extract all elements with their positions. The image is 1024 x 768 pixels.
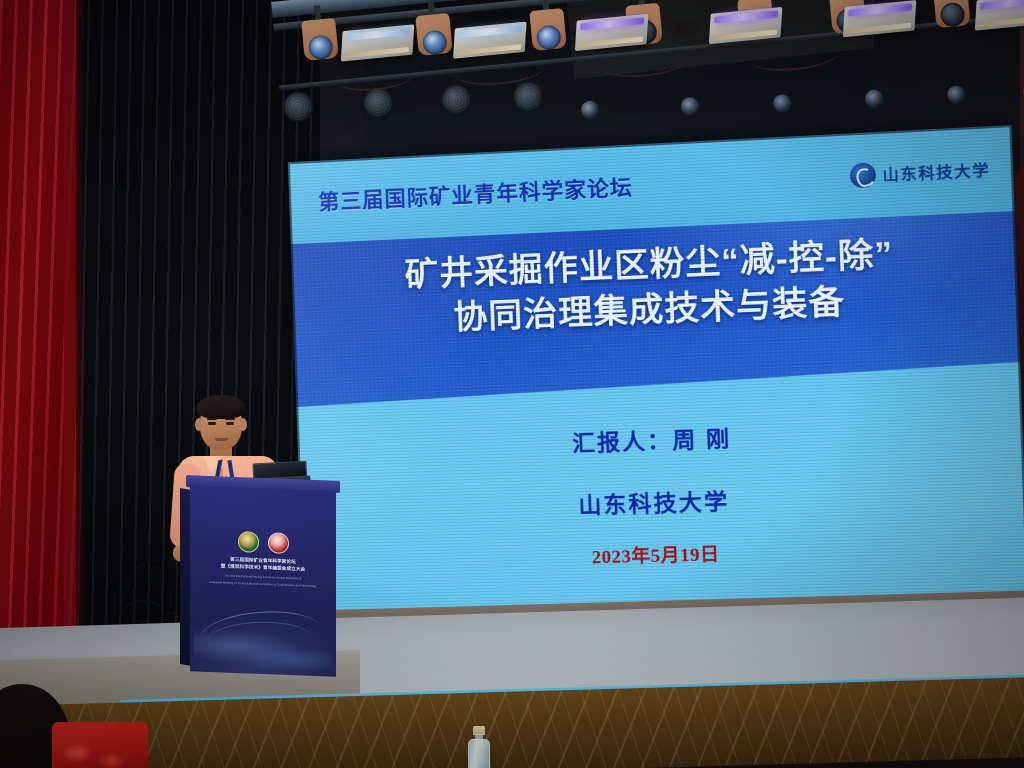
journal-emblem-icon [268,532,289,554]
presenter-brow-right [225,418,235,420]
led-bar-light [458,25,522,38]
par-can-light [440,83,473,116]
bottle-body [468,739,490,768]
led-bar-base [345,47,409,58]
conference-stage-photo: 第三届国际矿业青年科学家论坛 山东科技大学 矿井采掘作业区粉尘“减-控-除” 协… [0,0,1024,768]
led-bar-fixture [843,0,917,37]
university-logo: 山东科技大学 [850,157,991,189]
forum-emblem-icon [238,531,259,553]
lower-moving-head-light [858,64,888,112]
presenter-eye-left [208,422,216,425]
led-bar-base [979,16,1024,27]
lower-moving-head-light [940,60,970,108]
led-bar-light [848,4,912,17]
forum-name-header: 第三届国际矿业青年科学家论坛 [318,171,634,217]
lower-moving-head-light [674,71,704,119]
presenter-ear-right [239,418,247,431]
truss-cable [749,52,840,75]
par-can-light [362,87,395,120]
presenter-mouth [215,438,228,441]
university-name-text: 山东科技大学 [882,158,990,185]
par-can-light [282,90,315,123]
presenter-eye-right [226,422,234,425]
led-bar-fixture [575,14,649,51]
led-bar-base [847,23,911,34]
sdust-emblem-icon [850,162,877,188]
led-bar-base [579,36,643,47]
red-decorative-object [52,722,148,768]
led-bar-light [714,10,778,23]
led-presentation-screen: 第三届国际矿业青年科学家论坛 山东科技大学 矿井采掘作业区粉尘“减-控-除” 协… [288,125,1024,632]
presenter-ear-left [195,418,203,431]
lower-moving-head-light [574,75,604,123]
led-bar-light [980,0,1024,10]
red-curtain-shadow-edge [64,0,86,690]
led-bar-light [346,28,410,41]
water-bottle [466,726,492,768]
presenter-brow-left [207,418,217,420]
podium-signage-text: 第三届国际矿业青年科学家论坛 暨《煤炭科学技术》青年编委会成立大会 The 3r… [190,555,336,589]
podium-logo-group [190,529,336,556]
led-bar-fixture [341,24,415,61]
led-bar-base [457,44,521,55]
led-bar-fixture [975,0,1024,31]
led-bar-fixture [453,22,527,59]
podium-decorative-swirl [194,595,332,670]
par-can-light [512,80,545,113]
podium-front-panel: 第三届国际矿业青年科学家论坛 暨《煤炭科学技术》青年编委会成立大会 The 3r… [190,485,336,677]
speaker-podium: 第三届国际矿业青年科学家论坛 暨《煤炭科学技术》青年编委会成立大会 The 3r… [190,475,336,677]
presenter-hair [197,395,245,419]
lower-moving-head-light [766,68,796,116]
led-bar-light [580,17,644,30]
